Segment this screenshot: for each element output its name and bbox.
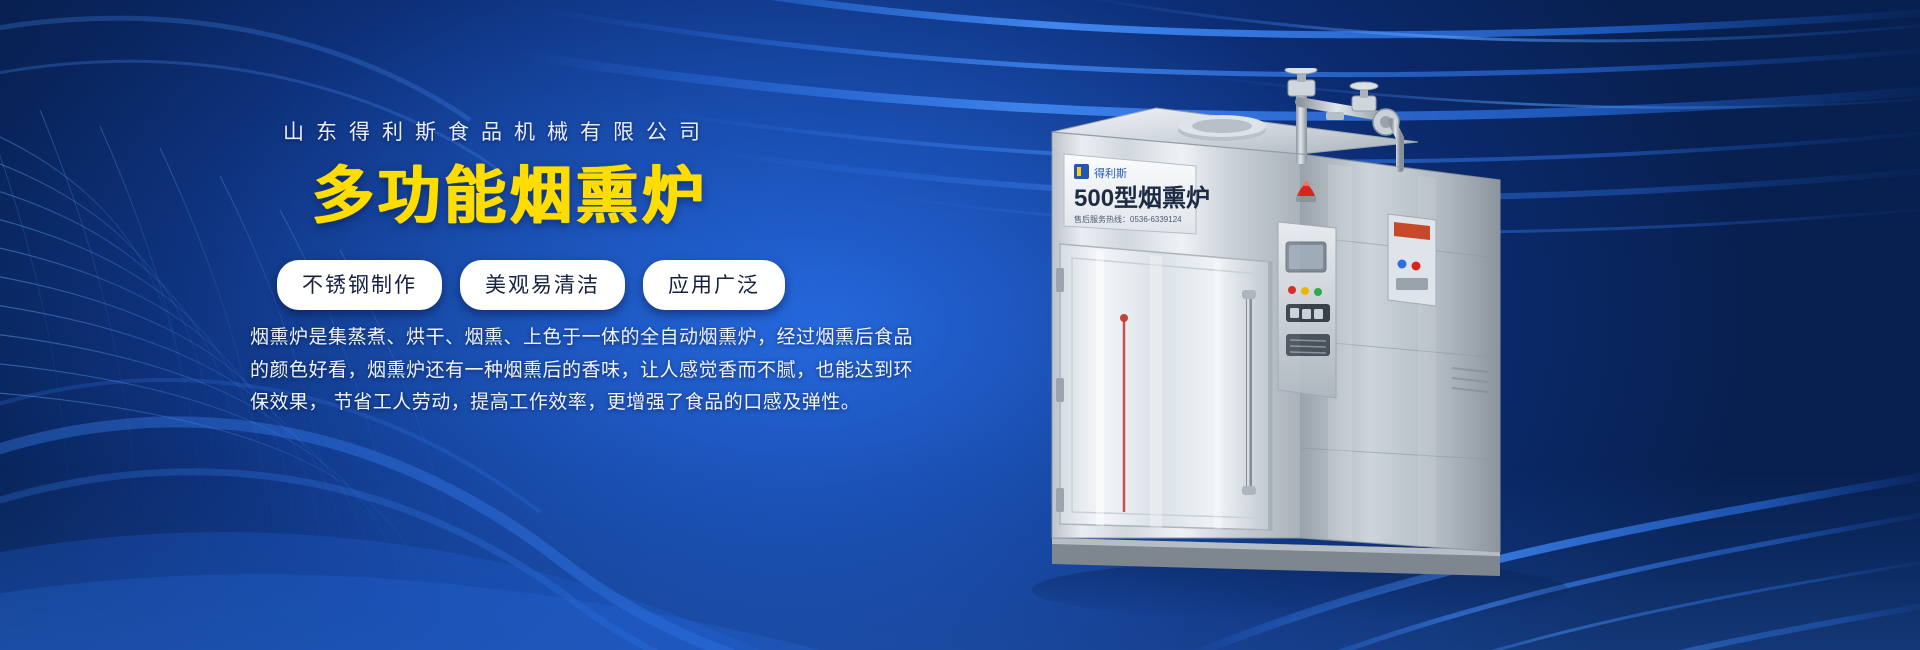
feature-pill-2[interactable]: 美观易清洁 [460,260,625,310]
description-line-1: 烟熏炉是集蒸煮、烘干、烟熏、上色于一体的全自动烟熏炉，经过烟熏后食品 [250,322,815,355]
company-name: 山东得利斯食品机械有限公司 [283,116,712,146]
feature-pill-1[interactable]: 不锈钢制作 [277,260,442,310]
product-image: 得利斯 500型烟熏炉 售后服务热线：0536-6339124 [1000,68,1620,628]
electrical-box [1388,214,1436,306]
description-line-3: 保效果， 节省工人劳动，提高工作效率，更增强了食品的口感及弹性。 [250,387,815,420]
banner-text-content: 山东得利斯食品机械有限公司 多功能烟熏炉 不锈钢制作 美观易清洁 应用广泛 烟熏… [0,0,860,650]
feature-pill-row: 不锈钢制作 美观易清洁 应用广泛 [277,260,785,310]
product-description: 烟熏炉是集蒸煮、烘干、烟熏、上色于一体的全自动烟熏炉，经过烟熏后食品 的颜色好看… [250,322,815,420]
product-banner: 得利斯 500型烟熏炉 售后服务热线：0536-6339124 [0,0,1920,650]
description-line-2: 的颜色好看，烟熏炉还有一种烟熏后的香味，让人感觉香而不腻，也能达到环 [250,355,815,388]
page-title: 多功能烟熏炉 [312,166,708,228]
feature-pill-3[interactable]: 应用广泛 [643,260,785,310]
